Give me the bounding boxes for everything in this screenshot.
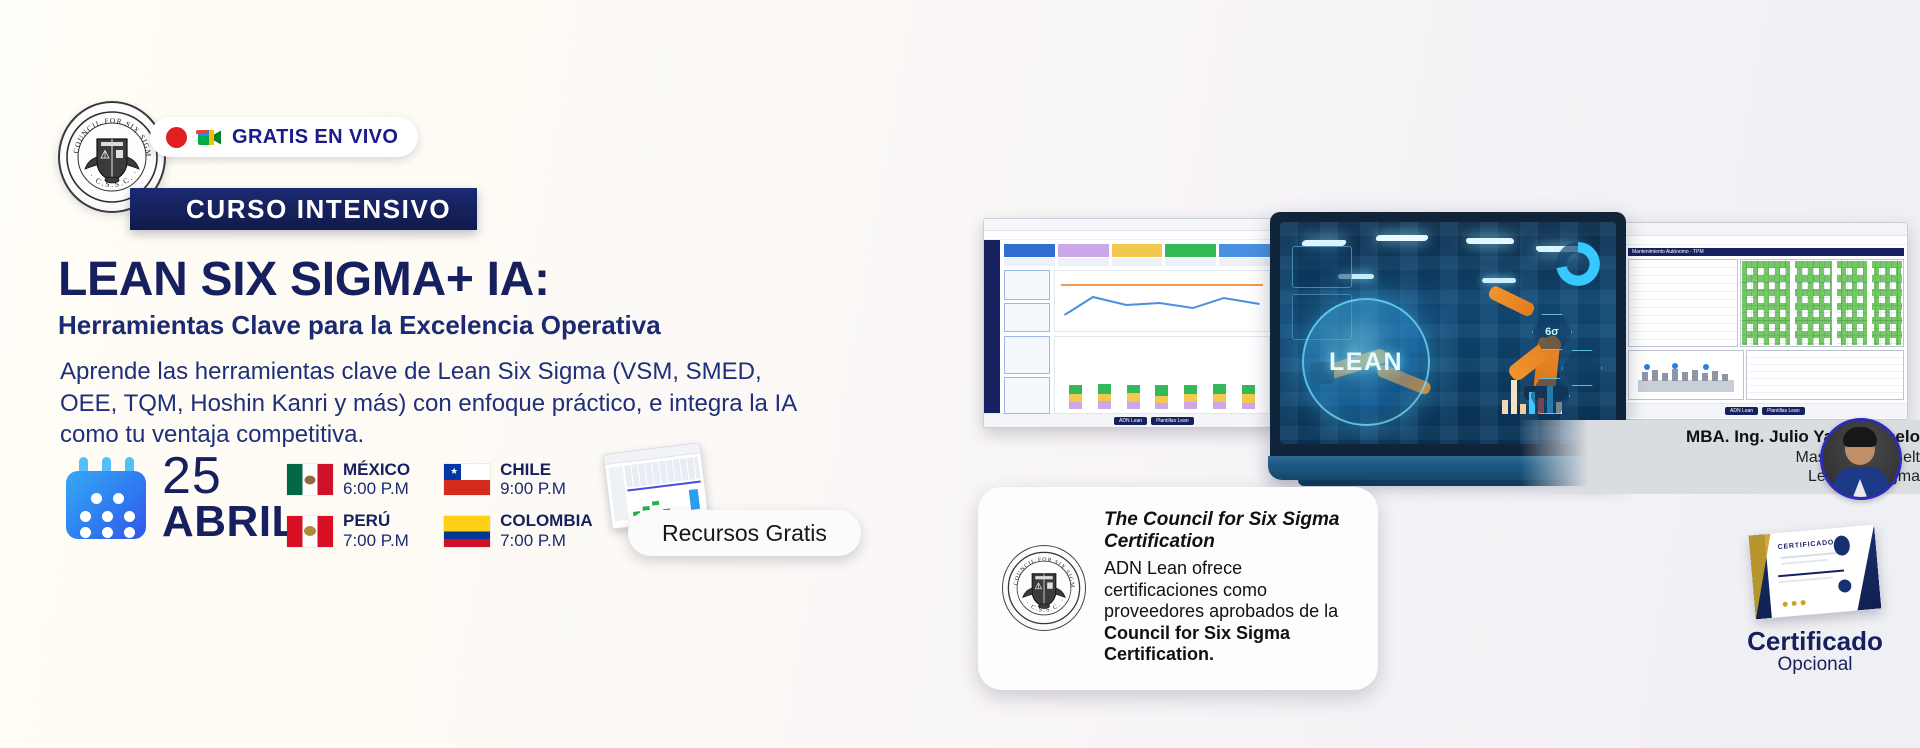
page-description: Aprende las herramientas clave de Lean S… [60, 356, 820, 451]
record-dot-icon [166, 127, 187, 148]
council-certification-card: COUNCIL FOR SIX SIGMA CERTIFICATION · C.… [978, 487, 1378, 690]
country-name: CHILE [500, 461, 566, 479]
tpm-title: Mantenimiento Autónomo - TPM [1628, 248, 1904, 256]
country-time: 6:00 P.M [343, 479, 410, 498]
council-card-body-text: ADN Lean ofrece certificaciones como pro… [1104, 558, 1338, 621]
lean-hologram-orb: LEAN [1302, 298, 1430, 426]
country-row-chile: ★ CHILE 9:00 P.M [444, 461, 593, 498]
council-card-body-bold: Council for Six Sigma Certification. [1104, 623, 1290, 665]
country-name: COLOMBIA [500, 512, 593, 530]
certificate-block: CERTIFICADO Certificado Opcional [1726, 530, 1904, 676]
cssc-seal-icon: COUNCIL FOR SIX SIGMA CERTIFICATION · C.… [1006, 550, 1082, 626]
country-time: 9:00 P.M [500, 479, 566, 498]
council-card-seal: COUNCIL FOR SIX SIGMA CERTIFICATION · C.… [1002, 546, 1086, 630]
oee-dashboard-screen: ADN Lean Plantillas Lean [983, 218, 1275, 428]
mexico-flag-icon [287, 464, 333, 495]
certificate-title: Certificado [1726, 628, 1904, 655]
calendar-icon [66, 457, 146, 539]
council-card-title: The Council for Six Sigma Certification [1104, 509, 1352, 553]
course-type-label: CURSO INTENSIVO [186, 194, 451, 225]
country-name: PERÚ [343, 512, 409, 530]
peru-flag-icon [287, 516, 333, 547]
certificate-image-label: CERTIFICADO [1777, 539, 1834, 551]
free-resources-label: Recursos Gratis [662, 520, 827, 547]
sheet-tab-plantillas[interactable]: Plantillas Lean [1151, 417, 1194, 425]
lean-orb-label: LEAN [1329, 348, 1403, 377]
country-name: MÉXICO [343, 461, 410, 479]
colombia-flag-icon [444, 516, 490, 547]
instructor-avatar [1820, 418, 1902, 500]
google-meet-icon [196, 127, 223, 148]
banner-canvas: COUNCIL FOR SIX SIGMA CERTIFICATION · C.… [0, 0, 1920, 748]
country-time: 7:00 P.M [500, 531, 593, 550]
country-row-peru: PERÚ 7:00 P.M [287, 512, 410, 549]
free-resources-button[interactable]: Recursos Gratis [628, 510, 861, 556]
event-date: 25 ABRIL [66, 452, 299, 543]
country-times: MÉXICO 6:00 P.M ★ CHILE 9:00 P.M PERÚ 7:… [287, 461, 593, 550]
sheet-tab-plantillas-right[interactable]: Plantillas Lean [1762, 407, 1805, 415]
chile-flag-icon: ★ [444, 464, 490, 495]
country-row-colombia: COLOMBIA 7:00 P.M [444, 512, 593, 549]
tpm-maintenance-screen: Mantenimiento Autónomo - TPM [1606, 222, 1908, 420]
live-badge: GRATIS EN VIVO [150, 117, 418, 157]
sheet-tab-adn-lean-right[interactable]: ADN Lean [1725, 407, 1758, 415]
certificate-icon: CERTIFICADO [1749, 525, 1882, 620]
certificate-subtitle: Opcional [1726, 655, 1904, 676]
event-day: 25 [162, 452, 299, 501]
council-card-body: ADN Lean ofrece certificaciones como pro… [1104, 558, 1352, 666]
country-time: 7:00 P.M [343, 531, 409, 550]
page-subtitle: Herramientas Clave para la Excelencia Op… [58, 310, 661, 341]
live-badge-label: GRATIS EN VIVO [232, 126, 398, 149]
country-row-mexico: MÉXICO 6:00 P.M [287, 461, 410, 498]
sheet-tab-adn-lean[interactable]: ADN Lean [1114, 417, 1147, 425]
page-title: LEAN SIX SIGMA+ IA: [58, 252, 550, 307]
course-type-banner: CURSO INTENSIVO [130, 188, 477, 230]
event-month: ABRIL [162, 501, 299, 543]
